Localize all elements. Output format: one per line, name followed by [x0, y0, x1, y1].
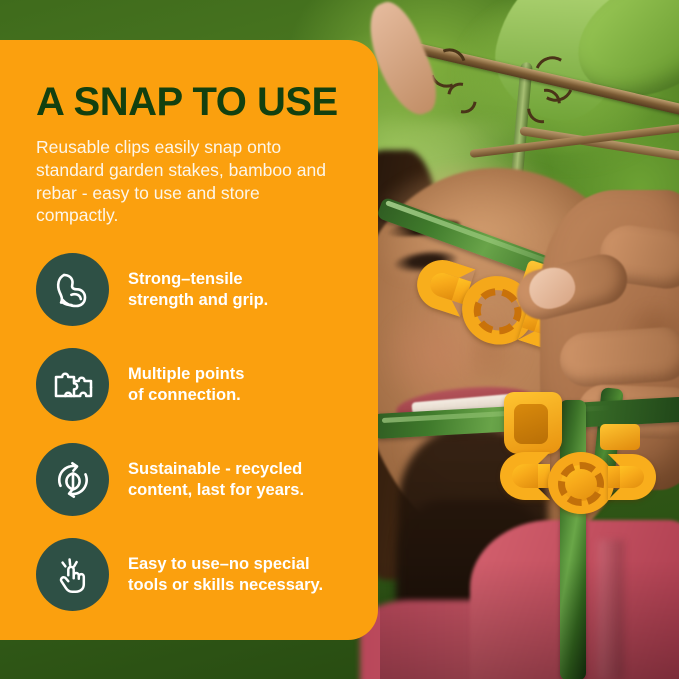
recycle-leaf-icon: [36, 443, 109, 516]
middle-finger: [558, 326, 679, 389]
list-item-label: Multiple points of connection.: [128, 364, 244, 406]
list-item: Sustainable - recycled content, last for…: [36, 443, 348, 516]
photo-vignette: [380, 559, 679, 679]
clip-hook-right: [608, 454, 656, 500]
list-item-label: Sustainable - recycled content, last for…: [128, 459, 304, 501]
tapping-hand-icon: [36, 538, 109, 611]
clip-hook-left: [500, 452, 550, 500]
product-marketing-image: A SNAP TO USE Reusable clips easily snap…: [0, 0, 679, 679]
list-item-label: Strong–tensile strength and grip.: [128, 269, 268, 311]
puzzle-pieces-icon: [36, 348, 109, 421]
list-item: Multiple points of connection.: [36, 348, 348, 421]
info-panel: A SNAP TO USE Reusable clips easily snap…: [0, 40, 378, 640]
page-title: A SNAP TO USE: [36, 82, 348, 122]
flexed-bicep-icon: [36, 253, 109, 326]
clip-teeth: [558, 462, 604, 506]
list-item: Strong–tensile strength and grip.: [36, 253, 348, 326]
list-item: Easy to use–no special tools or skills n…: [36, 538, 348, 611]
plant-clip-lower: [498, 430, 658, 522]
feature-list: Strong–tensile strength and grip. Multip…: [36, 253, 348, 611]
panel-subcopy: Reusable clips easily snap onto standard…: [36, 136, 336, 227]
list-item-label: Easy to use–no special tools or skills n…: [128, 554, 323, 596]
